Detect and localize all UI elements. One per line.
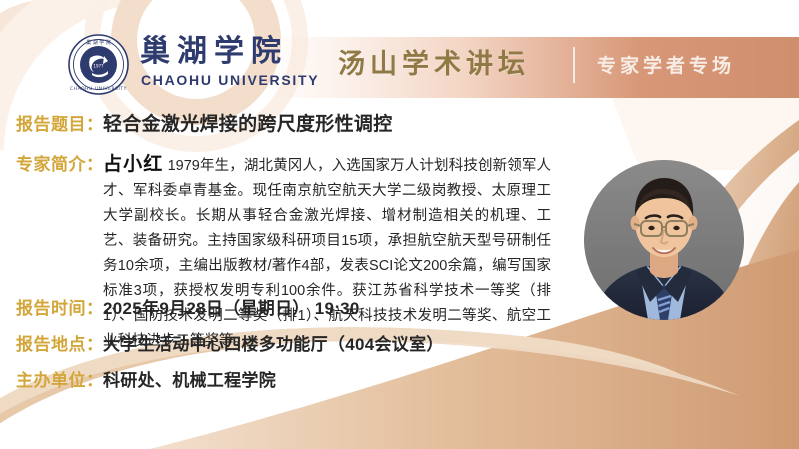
speaker-bio-row: 专家简介 ： 占小红 1979年生，湖北黄冈人，入选国家万人计划科技创新领军人才… [16,152,551,354]
report-location-label: 报告地点 [16,330,86,355]
speaker-bio-text: 占小红 1979年生，湖北黄冈人，入选国家万人计划科技创新领军人才、军科委卓青基… [103,152,551,354]
organizer-colon: ： [86,366,103,391]
speaker-name: 占小红 [103,154,163,175]
speaker-bio-label: 专家简介 [16,152,86,177]
report-title-colon: ： [86,110,103,135]
forum-subtitle: 专家学者专场 [597,53,735,79]
poster-canvas: 1977 巢 湖 学 院 CHAOHU UNIVERSITY 巢湖学院 CHAO… [0,0,799,449]
speaker-portrait-image [584,160,744,320]
chaohu-university-seal-icon: 1977 巢 湖 学 院 CHAOHU UNIVERSITY [68,34,129,95]
svg-text:巢 湖 学 院: 巢 湖 学 院 [86,39,111,46]
report-title-value: 轻合金激光焊接的跨尺度形性调控 [103,109,393,136]
svg-text:CHAOHU UNIVERSITY: CHAOHU UNIVERSITY [70,86,127,92]
organizer-value: 科研处、机械工程学院 [103,366,276,391]
organizer-label: 主办单位 [16,366,86,391]
university-name-cn: 巢湖学院 [140,34,288,70]
svg-text:1977: 1977 [93,64,104,69]
report-location-colon: ： [86,330,103,355]
report-time-label: 报告时间 [16,294,86,319]
forum-title: 汤山学术讲坛 [338,48,530,82]
report-location-value: 大学生活动中心四楼多功能厅（404会议室） [103,330,444,355]
report-time-row: 报告时间 ： 2025年9月28日（星期日） 19:30 [16,294,360,319]
organizer-row: 主办单位 ： 科研处、机械工程学院 [16,366,276,391]
speaker-bio-paragraph: 1979年生，湖北黄冈人，入选国家万人计划科技创新领军人才、军科委卓青基金。现任… [103,158,551,349]
report-location-row: 报告地点 ： 大学生活动中心四楼多功能厅（404会议室） [16,330,444,355]
report-time-value: 2025年9月28日（星期日） 19:30 [103,294,360,319]
university-name-en: CHAOHU UNIVERSITY [141,72,319,88]
report-title-label: 报告题目 [16,110,86,135]
speaker-portrait [584,160,744,320]
poster-header: 1977 巢 湖 学 院 CHAOHU UNIVERSITY 巢湖学院 CHAO… [0,0,799,110]
banner-divider [573,47,575,83]
speaker-bio-colon: ： [86,152,103,177]
report-time-colon: ： [86,294,103,319]
report-title-row: 报告题目 ： 轻合金激光焊接的跨尺度形性调控 [16,109,393,136]
